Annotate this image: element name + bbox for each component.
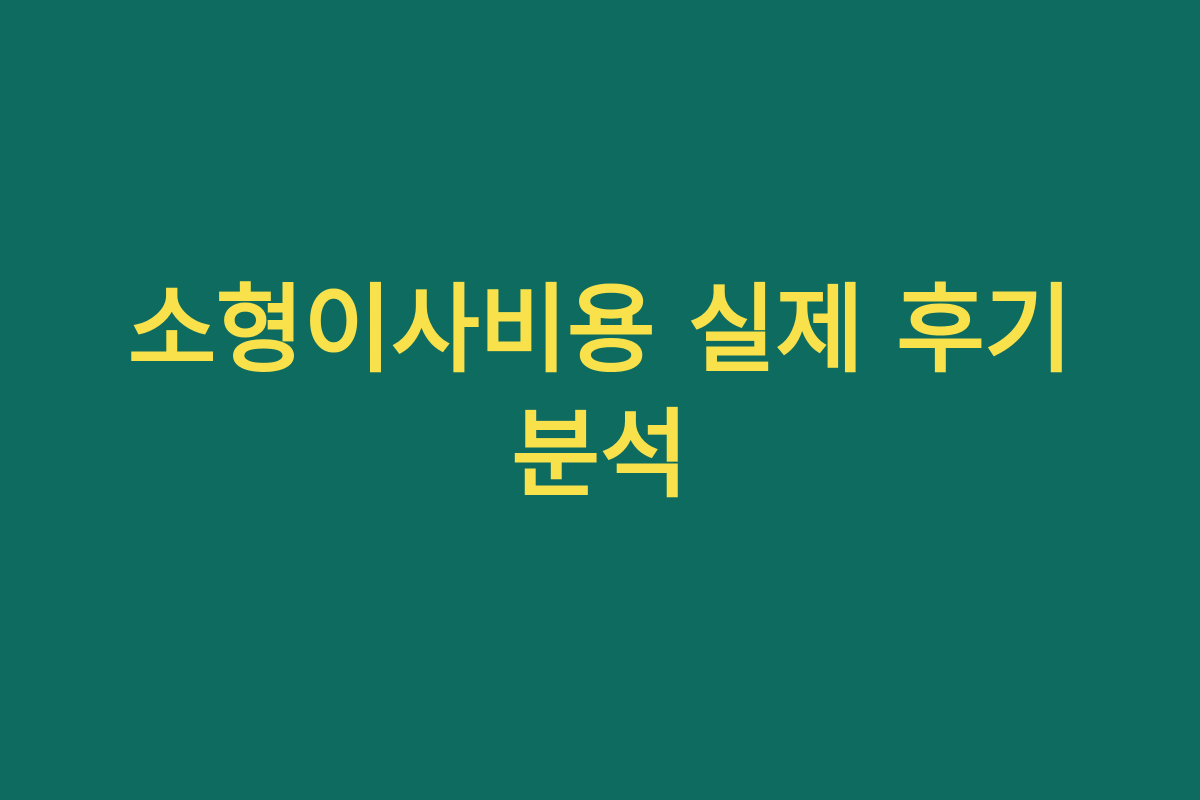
page-title: 소형이사비용 실제 후기 분석 xyxy=(85,268,1115,518)
page-title-line-2: 분석 xyxy=(85,393,1115,518)
page-title-line-1: 소형이사비용 실제 후기 xyxy=(85,268,1115,393)
title-banner: 소형이사비용 실제 후기 분석 xyxy=(0,0,1200,800)
